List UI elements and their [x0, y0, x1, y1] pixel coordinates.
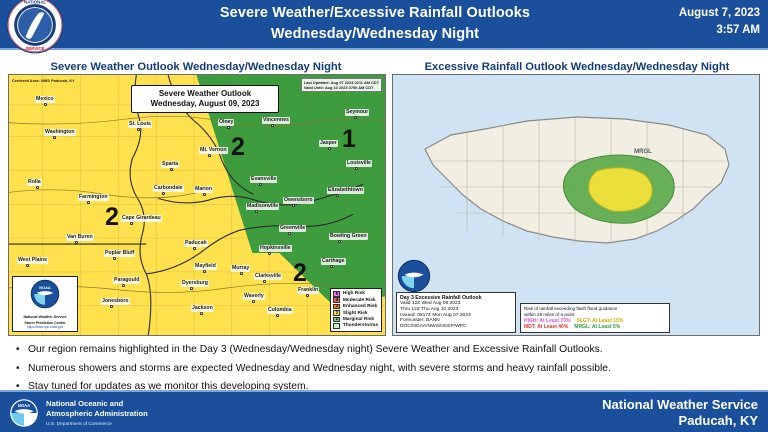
legend-swatch: 1 — [333, 317, 340, 323]
city-marker — [338, 240, 341, 243]
outlook-stamp: Severe Weather Outlook Wednesday, August… — [131, 85, 279, 113]
city-marker — [200, 312, 203, 315]
svg-text:NOAA: NOAA — [18, 403, 30, 408]
city-label: Paducah — [184, 240, 208, 247]
outlook-stamp-line1: Severe Weather Outlook — [140, 89, 270, 99]
city-label: Vincennes — [262, 117, 290, 124]
city-label: Greenville — [279, 225, 306, 232]
city-label: Murray — [231, 265, 250, 272]
city-marker — [276, 314, 279, 317]
footer-agency-line1: National Oceanic and — [46, 399, 148, 409]
legend-row: 1Marginal Risk — [333, 316, 378, 322]
rainfall-legend-row: MDT: At Least 40%MRGL: At Least 5% — [524, 324, 666, 330]
svg-text:NOAA: NOAA — [39, 285, 51, 290]
city-label: Rolla — [27, 179, 42, 186]
city-label: Carthage — [321, 258, 346, 265]
city-label: Waverly — [243, 293, 265, 300]
city-marker — [306, 294, 309, 297]
city-marker — [240, 272, 243, 275]
header-datetime: August 7, 2023 3:57 AM — [679, 5, 760, 39]
excessive-rainfall-outlook-map[interactable]: MRGL Day 3 Excessive Rainfall Outlook Va… — [392, 74, 760, 336]
update-valid-note: Last Updated: Aug 07 2023 0211 AM CDT Va… — [301, 78, 382, 92]
rainfall-legend-item: SLGT: At Least 15% — [577, 318, 624, 324]
city-label: West Plains — [17, 257, 48, 264]
risk-number-2: 2 — [105, 203, 119, 232]
svg-text:SERVICE: SERVICE — [26, 46, 45, 51]
legend-swatch: 2 — [333, 310, 340, 316]
city-label: Paragould — [113, 277, 140, 284]
city-label: Madisonville — [246, 203, 279, 210]
city-label: Sparta — [161, 161, 179, 168]
legend-swatch: 4 — [333, 297, 340, 303]
legend-swatch — [333, 323, 340, 329]
city-marker — [190, 287, 193, 290]
header-title-line2: Wednesday/Wednesday Night — [120, 24, 630, 45]
footer-agency-line2: Atmospheric Administration — [46, 409, 148, 419]
city-label: Mexico — [35, 96, 55, 103]
risk-number-1: 1 — [342, 125, 356, 154]
city-marker — [122, 284, 125, 287]
city-label: St. Louis — [128, 121, 152, 128]
wpc-info-line: DOC/NOAA/NWS/NCEP/WPC — [400, 324, 512, 330]
city-label: Van Buren — [66, 234, 94, 241]
legend-row: Thunderstorms — [333, 323, 378, 329]
noaa-logo-icon: NOAA — [30, 279, 60, 309]
city-marker — [259, 183, 262, 186]
city-label: Jonesboro — [101, 298, 130, 305]
svg-text:MRGL: MRGL — [634, 149, 652, 155]
footer-office-line1: National Weather Service — [602, 397, 758, 413]
spc-logo-box: NOAA National Weather Service Storm Pred… — [12, 276, 78, 332]
footer-department: U.S. Department of Commerce — [46, 420, 148, 430]
city-marker — [87, 201, 90, 204]
city-marker — [203, 193, 206, 196]
city-marker — [193, 247, 196, 250]
header-date: August 7, 2023 — [679, 5, 760, 22]
city-marker — [268, 252, 271, 255]
city-label: Elizabethtown — [327, 187, 364, 194]
city-label: Olney — [218, 119, 234, 126]
header-time: 3:57 AM — [679, 22, 760, 39]
city-marker — [330, 265, 333, 268]
city-marker — [252, 300, 255, 303]
conus-map: MRGL — [407, 91, 747, 291]
centered-area-note: Centered Area: NWS Paducah, KY — [12, 78, 75, 83]
city-marker — [227, 126, 230, 129]
city-label: Evansville — [250, 176, 277, 183]
city-marker — [354, 116, 357, 119]
city-marker — [170, 168, 173, 171]
header-title-line1: Severe Weather/Excessive Rainfall Outloo… — [120, 3, 630, 24]
footer-agency: National Oceanic and Atmospheric Adminis… — [46, 399, 148, 429]
rainfall-legend-item: MDT: At Least 40% — [524, 324, 568, 330]
legend-label: High Risk — [343, 291, 365, 296]
city-label: Franklin — [297, 287, 319, 294]
bullet-item: Our region remains highlighted in the Da… — [14, 341, 756, 360]
wpc-info-lines: Valid 12Z Wed Aug 09 2023Thru 12Z Thu Au… — [400, 301, 512, 330]
city-label: Bowling Green — [329, 233, 368, 240]
rainfall-risk-legend: Risk of rainfall exceeding flash flood g… — [520, 303, 670, 333]
legend-swatch: 5 — [333, 291, 340, 297]
header-bar: NATIONAL SERVICE Severe Weather/Excessiv… — [0, 0, 768, 50]
city-marker — [44, 103, 47, 106]
city-marker — [271, 124, 274, 127]
city-label: Poplar Bluff — [104, 250, 135, 257]
legend-label: Marginal Risk — [343, 317, 374, 322]
risk-number-2: 2 — [293, 259, 307, 288]
bullet-item: Numerous showers and storms are expected… — [14, 360, 756, 379]
city-marker — [75, 241, 78, 244]
city-marker — [288, 232, 291, 235]
city-marker — [130, 222, 133, 225]
rainfall-legend-item: HIGH: At Least 70% — [524, 318, 571, 324]
city-marker — [26, 264, 29, 267]
city-marker — [355, 167, 358, 170]
city-marker — [263, 280, 266, 283]
city-marker — [208, 154, 211, 157]
city-marker — [292, 204, 295, 207]
header-title: Severe Weather/Excessive Rainfall Outloo… — [120, 3, 630, 45]
city-label: Farmington — [78, 194, 109, 201]
city-marker — [255, 210, 258, 213]
city-label: Louisville — [346, 160, 372, 167]
city-label: Washington — [44, 129, 76, 136]
city-marker — [203, 270, 206, 273]
legend-row: 3Enhanced Risk — [333, 303, 378, 309]
bullet-list: Our region remains highlighted in the Da… — [14, 341, 756, 397]
severe-panel-title: Severe Weather Outlook Wednesday/Wednesd… — [6, 61, 386, 73]
spc-url[interactable]: https://www.spc.noaa.gov — [15, 325, 75, 329]
rainfall-legend-desc-2: within 25 miles of a point — [524, 312, 666, 317]
city-marker — [113, 257, 116, 260]
legend-label: Moderate Risk — [343, 298, 376, 303]
legend-label: Thunderstorms — [343, 323, 378, 328]
footer-office: National Weather Service Paducah, KY — [602, 397, 758, 429]
city-marker — [336, 194, 339, 197]
valid-until-text: Valid Until: Aug 10 2023 0700 AM CDT — [304, 85, 379, 90]
city-label: Columbia — [267, 307, 293, 314]
footer-bar: NOAA National Oceanic and Atmospheric Ad… — [0, 390, 768, 432]
briefing-slide: NATIONAL SERVICE Severe Weather/Excessiv… — [0, 0, 768, 432]
footer-office-line2: Paducah, KY — [602, 413, 758, 429]
city-marker — [110, 305, 113, 308]
city-label: Mt. Vernon — [199, 147, 228, 154]
city-label: Clarksville — [254, 273, 282, 280]
wpc-info-box: Day 3 Excessive Rainfall Outlook Valid 1… — [396, 292, 516, 333]
city-label: Marion — [194, 186, 213, 193]
legend-label: Slight Risk — [343, 311, 368, 316]
city-label: Seymour — [345, 109, 369, 116]
legend-swatch: 3 — [333, 304, 340, 310]
nws-seal-icon: NATIONAL SERVICE — [6, 0, 64, 54]
spc-caption-line1: National Weather Service — [15, 315, 75, 319]
city-label: Jackson — [191, 305, 214, 312]
svg-text:NATIONAL: NATIONAL — [24, 0, 46, 5]
city-label: Hopkinsville — [259, 245, 292, 252]
rainfall-legend-item: MRGL: At Least 5% — [574, 324, 620, 330]
rainfall-panel-title: Excessive Rainfall Outlook Wednesday/Wed… — [390, 61, 764, 73]
city-label: Owensboro — [283, 197, 314, 204]
rainfall-legend-row: HIGH: At Least 70%SLGT: At Least 15% — [524, 318, 666, 324]
city-label: Cape Girardeau — [121, 215, 162, 222]
outlook-stamp-line2: Wednesday, August 09, 2023 — [140, 99, 270, 109]
city-marker — [162, 192, 165, 195]
city-label: Carbondale — [153, 185, 184, 192]
severe-weather-outlook-map[interactable]: Centered Area: NWS Paducah, KY Last Upda… — [8, 74, 386, 336]
severe-risk-legend: 5High Risk4Moderate Risk3Enhanced Risk2S… — [330, 288, 382, 332]
city-marker — [53, 136, 56, 139]
risk-number-2: 2 — [231, 133, 245, 162]
city-label: Dyersburg — [181, 280, 209, 287]
city-label: Jasper — [319, 140, 338, 147]
city-marker — [36, 186, 39, 189]
noaa-logo-icon: NOAA — [9, 398, 39, 428]
legend-row: 4Moderate Risk — [333, 297, 378, 303]
noaa-logo-icon — [397, 259, 431, 293]
city-marker — [328, 147, 331, 150]
city-marker — [137, 128, 140, 131]
legend-label: Enhanced Risk — [343, 304, 377, 309]
city-label: Mayfield — [194, 263, 217, 270]
rainfall-legend-items: HIGH: At Least 70%SLGT: At Least 15%MDT:… — [524, 318, 666, 331]
